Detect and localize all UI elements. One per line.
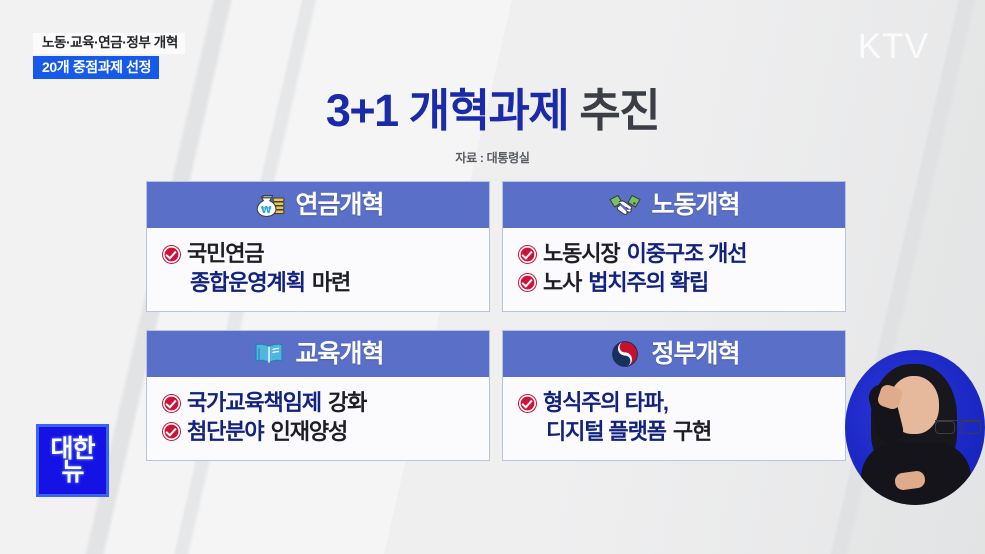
reform-task-item: 노사법치주의 확립 [519,270,833,296]
svg-text:₩: ₩ [261,205,272,216]
check-circle-icon [519,274,536,291]
reform-card-body: 형식주의 타파,디지털 플랫폼구현 [503,377,845,460]
reform-task-emphasis: 디지털 플랫폼 [546,419,666,445]
taegeuk-emblem-icon [608,339,642,369]
ktv-watermark-logo: KTV [858,27,929,67]
open-book-icon [252,339,286,369]
reform-task-item: 형식주의 타파, [519,390,833,416]
reform-card-title: 정부개혁 [651,342,739,367]
channel-logo: 대한 뉴 [36,424,109,497]
reform-card: 노동개혁노동시장이중구조 개선노사법치주의 확립 [502,181,846,312]
news-ticker: 노동·교육·연금·정부 개혁 20개 중점과제 선정 [33,33,185,79]
interpreter-glasses-icon [935,420,981,431]
reform-card-header: 노동개혁 [503,182,845,228]
reform-task-item: 디지털 플랫폼구현 [519,419,833,445]
page-title-highlight: 3+1 개혁과제 [326,85,568,136]
broadcast-stage: 노동·교육·연금·정부 개혁 20개 중점과제 선정 KTV 3+1 개혁과제 … [0,0,985,554]
reform-task-item: 국가교육책임제강화 [163,390,477,416]
reform-task-emphasis: 형식주의 타파, [543,390,668,416]
reform-card-body: 노동시장이중구조 개선노사법치주의 확립 [503,228,845,311]
reform-task-item: 종합운영계획마련 [163,270,477,296]
page-title: 3+1 개혁과제 추진 [0,88,985,133]
reform-task-emphasis: 이중구조 개선 [627,241,747,267]
reform-card-title: 연금개혁 [295,193,383,218]
ticker-subheadline: 20개 중점과제 선정 [33,56,159,79]
reform-card-header: 교육개혁 [147,331,489,377]
reform-task-emphasis: 국가교육책임제 [187,390,321,416]
reform-task-text: 구현 [673,419,711,445]
check-circle-icon [163,395,180,412]
reform-card: ₩ 연금개혁국민연금종합운영계획마련 [146,181,490,312]
handshake-icon [608,190,642,220]
reform-task-emphasis: 종합운영계획 [190,270,305,296]
reform-task-text: 노동시장 [543,241,620,267]
reform-card-header: 정부개혁 [503,331,845,377]
check-circle-icon [519,246,536,263]
page-title-tail: 추진 [579,85,659,136]
reform-task-text: 마련 [312,270,350,296]
reform-card-title: 노동개혁 [651,193,739,218]
reform-task-item: 국민연금 [163,241,477,267]
reform-card-body: 국가교육책임제강화첨단분야인재양성 [147,377,489,460]
reform-task-text: 노사 [543,270,581,296]
reform-card: 교육개혁국가교육책임제강화첨단분야인재양성 [146,330,490,461]
reform-card-title: 교육개혁 [295,342,383,367]
sign-language-interpreter-inset [845,350,985,505]
reform-task-item: 노동시장이중구조 개선 [519,241,833,267]
ticker-headline: 노동·교육·연금·정부 개혁 [33,33,185,54]
reform-task-emphasis: 첨단분야 [187,419,264,445]
reform-task-emphasis: 법치주의 확립 [588,270,708,296]
reform-card-header: ₩ 연금개혁 [147,182,489,228]
source-credit: 자료 : 대통령실 [0,149,985,166]
reform-card-grid: ₩ 연금개혁국민연금종합운영계획마련 노동개혁노동시장이중구조 개선노사법치주의… [146,181,846,461]
check-circle-icon [163,246,180,263]
reform-card: 정부개혁형식주의 타파,디지털 플랫폼구현 [502,330,846,461]
reform-task-text: 국민연금 [187,241,264,267]
money-bag-icon: ₩ [252,190,286,220]
check-circle-icon [519,395,536,412]
reform-task-text: 인재양성 [271,419,348,445]
channel-logo-line2: 뉴 [61,461,83,484]
check-circle-icon [163,423,180,440]
reform-task-item: 첨단분야인재양성 [163,419,477,445]
reform-task-text: 강화 [328,390,366,416]
reform-card-body: 국민연금종합운영계획마련 [147,228,489,311]
